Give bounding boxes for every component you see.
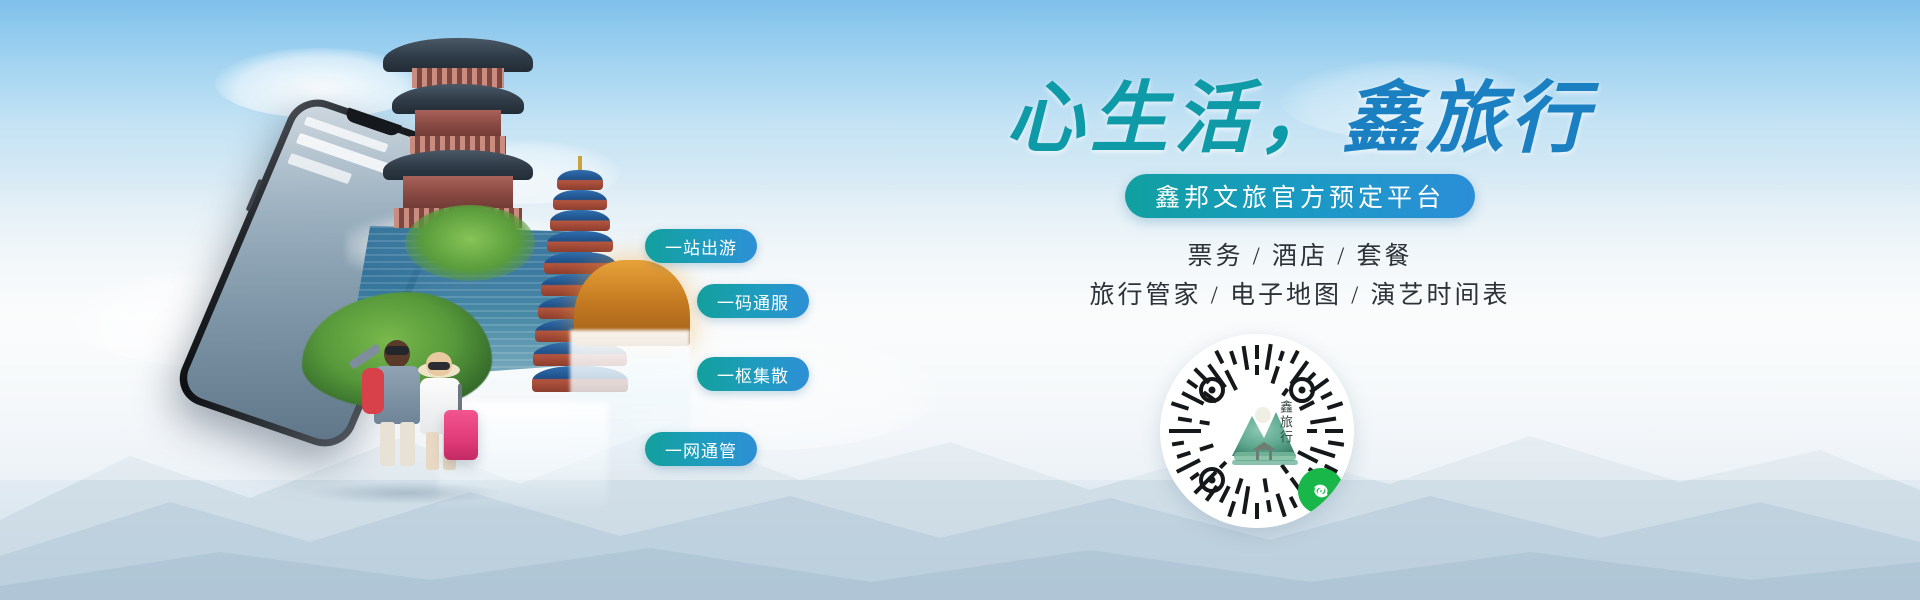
- traveler-couple-image: [340, 322, 500, 492]
- ground-shadow: [310, 482, 500, 504]
- official-platform-badge[interactable]: 鑫邦文旅官方预定平台: [1125, 174, 1475, 218]
- pink-suitcase-image: [444, 410, 478, 460]
- feature-pill-one-hub-transit[interactable]: 一枢集散: [697, 357, 809, 391]
- feature-pill-label: 一网通管: [665, 437, 737, 462]
- service-list: 票务 / 酒店 / 套餐 旅行管家 / 电子地图 / 演艺时间表: [820, 238, 1780, 316]
- headline: 心生活，鑫旅行: [820, 78, 1780, 160]
- service-line-primary: 票务 / 酒店 / 套餐: [820, 238, 1780, 277]
- suitcase-handle: [458, 384, 462, 412]
- feature-pill-label: 一码通服: [717, 289, 789, 314]
- service-line-secondary: 旅行管家 / 电子地图 / 演艺时间表: [820, 277, 1780, 316]
- feature-pill-one-code-service[interactable]: 一码通服: [697, 284, 809, 318]
- promo-text-block: 心生活，鑫旅行 鑫邦文旅官方预定平台 票务 / 酒店 / 套餐 旅行管家 / 电…: [820, 78, 1780, 315]
- wechat-miniprogram-icon: [1298, 468, 1344, 514]
- qr-brand-label: 鑫旅行: [1276, 400, 1295, 445]
- phone-scenery-composite-illustration: [150, 30, 710, 500]
- headline-part-one: 心生活，: [1006, 75, 1342, 162]
- feature-pill-label: 一站出游: [665, 234, 737, 259]
- feature-pill-label: 一枢集散: [717, 362, 789, 387]
- pagoda-building-image: [378, 38, 538, 228]
- feature-pill-one-network-management[interactable]: 一网通管: [645, 432, 757, 466]
- headline-part-two: 鑫旅行: [1342, 75, 1594, 162]
- wechat-miniprogram-qr-code[interactable]: 鑫旅行: [1160, 334, 1354, 528]
- foliage-image: [405, 205, 535, 281]
- promo-banner: 一站出游 一码通服 一枢集散 一网通管 心生活，鑫旅行 鑫邦文旅官方预定平台 票…: [0, 0, 1920, 600]
- feature-pill-one-stop-travel[interactable]: 一站出游: [645, 229, 757, 263]
- official-platform-badge-label: 鑫邦文旅官方预定平台: [1155, 178, 1445, 214]
